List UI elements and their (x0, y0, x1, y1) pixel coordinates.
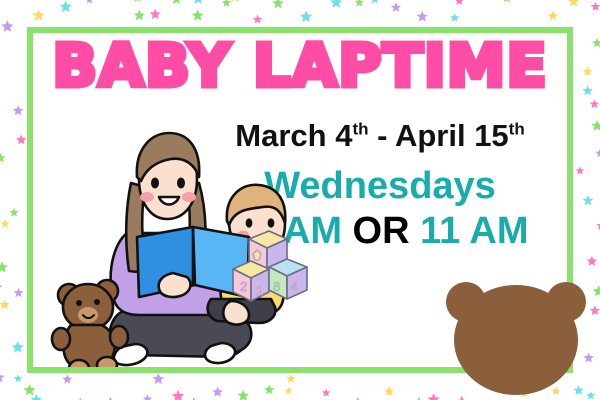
confetti-star (450, 13, 459, 22)
adult-left-cheek (140, 192, 154, 202)
teddy-right-foot (97, 357, 117, 367)
confetti-star (0, 282, 2, 293)
confetti-star (330, 0, 342, 8)
confetti-star (391, 2, 401, 12)
teddy-right-arm (110, 326, 128, 348)
confetti-star (548, 11, 558, 21)
adult-right-cheek (182, 192, 196, 202)
confetti-star (592, 38, 600, 47)
confetti-star (1, 219, 10, 228)
date-separator: - (377, 118, 387, 153)
time-second: 11 AM (420, 210, 528, 252)
teddy-left-eye (76, 300, 82, 306)
confetti-star (583, 67, 593, 76)
confetti-star (10, 208, 19, 217)
confetti-star (592, 120, 600, 131)
confetti-star (582, 85, 593, 95)
confetti-star (62, 374, 72, 384)
confetti-star (222, 0, 231, 7)
confetti-star (593, 285, 600, 296)
confetti-star (322, 388, 331, 396)
confetti-star (143, 394, 152, 400)
adult-right-shoe (205, 343, 235, 363)
adult-smile (159, 197, 179, 205)
confetti-star (0, 153, 6, 163)
confetti-star (285, 387, 293, 395)
confetti-star (0, 372, 5, 383)
block-digit-1: 1 (256, 283, 263, 298)
confetti-star (133, 0, 143, 2)
confetti-star (12, 341, 24, 353)
confetti-star (591, 2, 600, 11)
confetti-star (229, 0, 241, 2)
confetti-star (31, 394, 42, 400)
confetti-star (355, 0, 364, 6)
page-title: BABY LAPTIME (33, 35, 567, 97)
confetti-star (150, 9, 161, 20)
confetti-star (272, 0, 284, 8)
date-end-suffix: th (509, 120, 525, 139)
confetti-star (596, 221, 600, 230)
confetti-star (455, 0, 465, 5)
confetti-star (1, 20, 13, 32)
confetti-star (590, 99, 599, 108)
confetti-star (428, 393, 440, 400)
confetti-star (237, 390, 249, 400)
confetti-star (300, 10, 312, 22)
badge-bear-head (454, 285, 578, 395)
adult-left-eye (151, 178, 159, 189)
confetti-star (264, 384, 274, 394)
date-end-month: April (395, 118, 466, 153)
adult-right-eye (177, 178, 185, 189)
poster-canvas: BABY LAPTIME March 4th - April 15th Wedn… (0, 0, 600, 400)
teddy-left-arm (52, 328, 70, 350)
date-start-day: 4 (335, 118, 352, 153)
confetti-star (583, 195, 594, 206)
confetti-star (172, 390, 185, 400)
confetti-star (13, 105, 24, 115)
confetti-star (24, 384, 36, 395)
confetti-star (60, 0, 72, 12)
block-digit-8: 8 (273, 279, 280, 294)
confetti-star (0, 299, 10, 309)
confetti-star (417, 11, 428, 22)
confetti-star (14, 288, 24, 297)
confetti-star (85, 0, 94, 4)
toy-blocks: 2 1 8 4 (229, 225, 317, 313)
teddy-left-foot (69, 360, 89, 367)
confetti-star (192, 9, 204, 20)
status-badge (440, 268, 592, 400)
confetti-star (587, 256, 598, 266)
confetti-star (171, 0, 183, 4)
confetti-star (576, 166, 585, 174)
confetti-star (253, 15, 262, 24)
confetti-star (595, 148, 600, 157)
confetti-star (568, 0, 579, 7)
confetti-star (370, 0, 380, 4)
confetti-star (0, 261, 8, 272)
confetti-star (212, 387, 223, 397)
teddy-right-eye (94, 299, 100, 305)
confetti-star (16, 135, 26, 145)
time-conjunction: OR (353, 210, 410, 252)
block-digit-2: 2 (240, 279, 247, 294)
adult-left-hand (159, 273, 191, 297)
date-end-day: 15 (474, 118, 508, 153)
confetti-star (134, 10, 145, 21)
confetti-star (153, 373, 165, 384)
block-digit-4: 4 (291, 279, 298, 294)
confetti-star (502, 0, 512, 2)
confetti-star (286, 374, 295, 383)
date-start-suffix: th (352, 120, 368, 139)
confetti-star (0, 36, 1, 44)
confetti-star (32, 9, 44, 21)
confetti-star (384, 386, 394, 396)
confetti-star (192, 0, 204, 4)
confetti-star (14, 374, 22, 382)
